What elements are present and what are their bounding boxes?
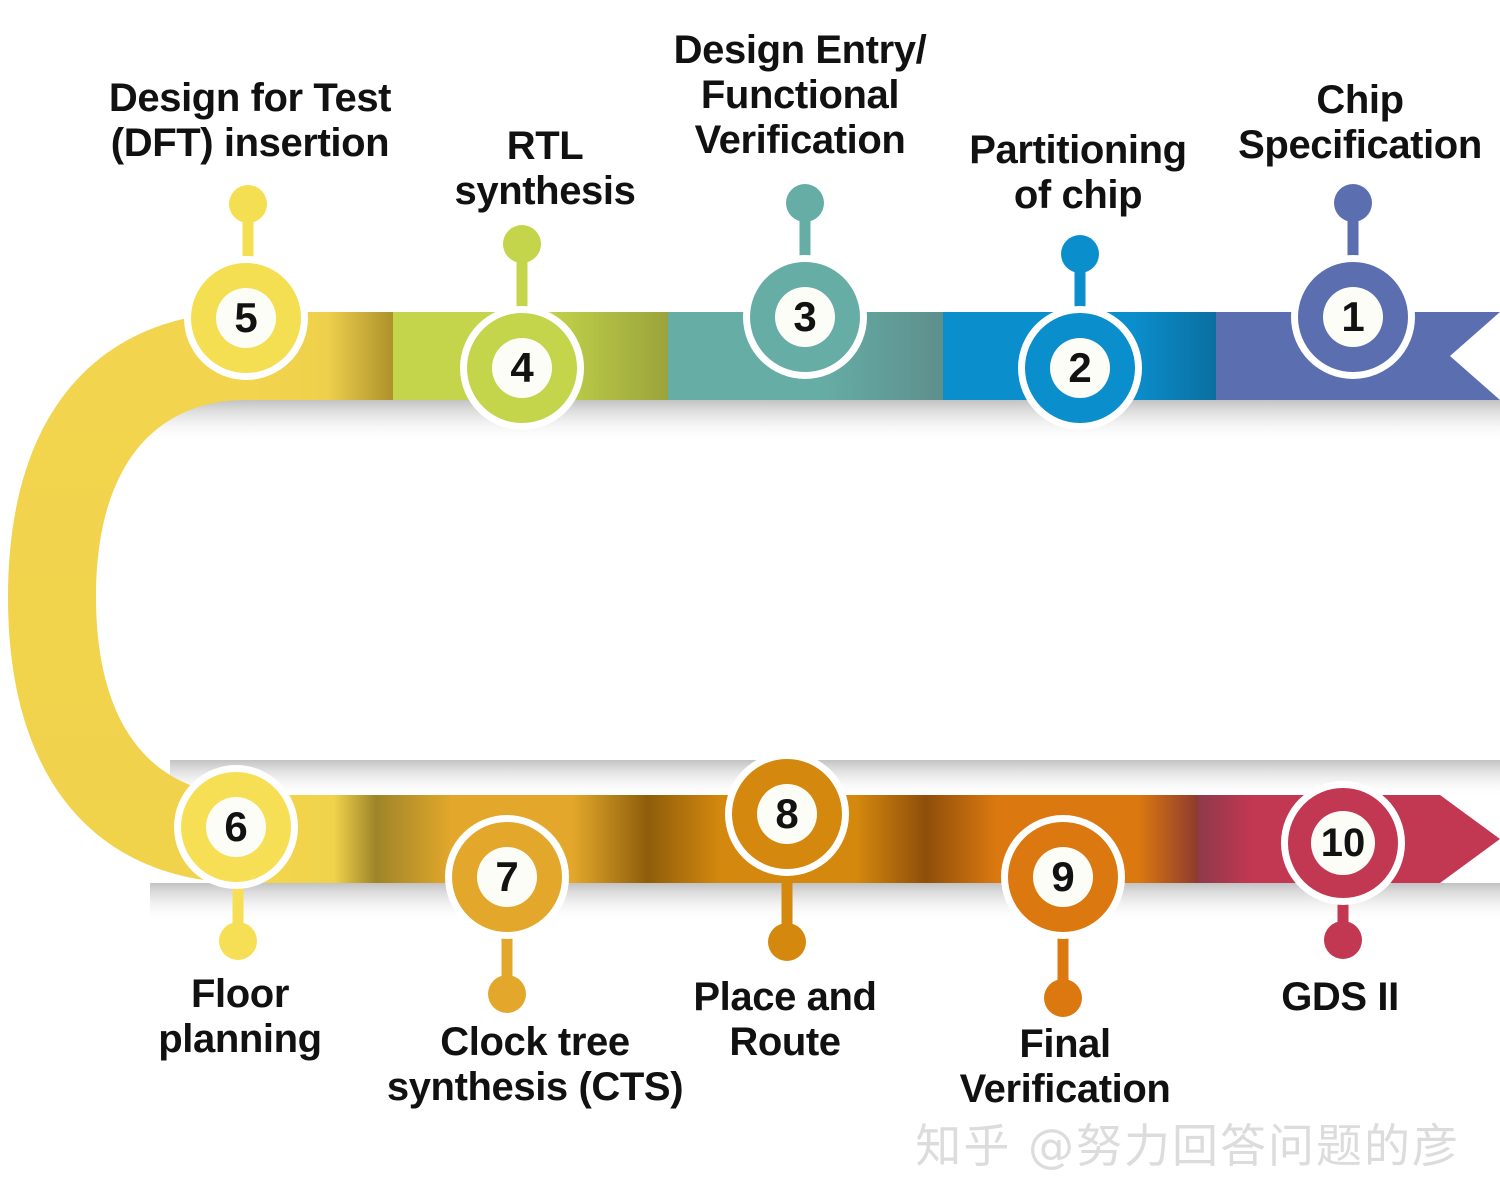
marker-step-8[interactable] — [725, 752, 849, 961]
diagram-canvas: 1 2 3 4 5 6 7 8 9 10 Chip Specification … — [0, 0, 1500, 1200]
watermark: 知乎 @努力回答问题的彦 — [915, 1110, 1460, 1176]
marker-step-9[interactable] — [1001, 815, 1125, 1017]
marker-step-3[interactable] — [743, 184, 867, 379]
step-label-5: Design for Test (DFT) insertion — [40, 76, 460, 166]
marker-step-10[interactable] — [1281, 781, 1405, 959]
marker-step-2[interactable] — [1018, 235, 1142, 430]
marker-step-4[interactable] — [460, 225, 584, 430]
marker-step-1[interactable] — [1291, 184, 1415, 379]
marker-step-7[interactable] — [445, 815, 569, 1013]
step-label-9: Final Verification — [865, 1022, 1265, 1112]
marker-step-6[interactable] — [174, 765, 298, 960]
step-label-10: GDS II — [1140, 975, 1500, 1020]
marker-step-5[interactable] — [184, 185, 308, 380]
